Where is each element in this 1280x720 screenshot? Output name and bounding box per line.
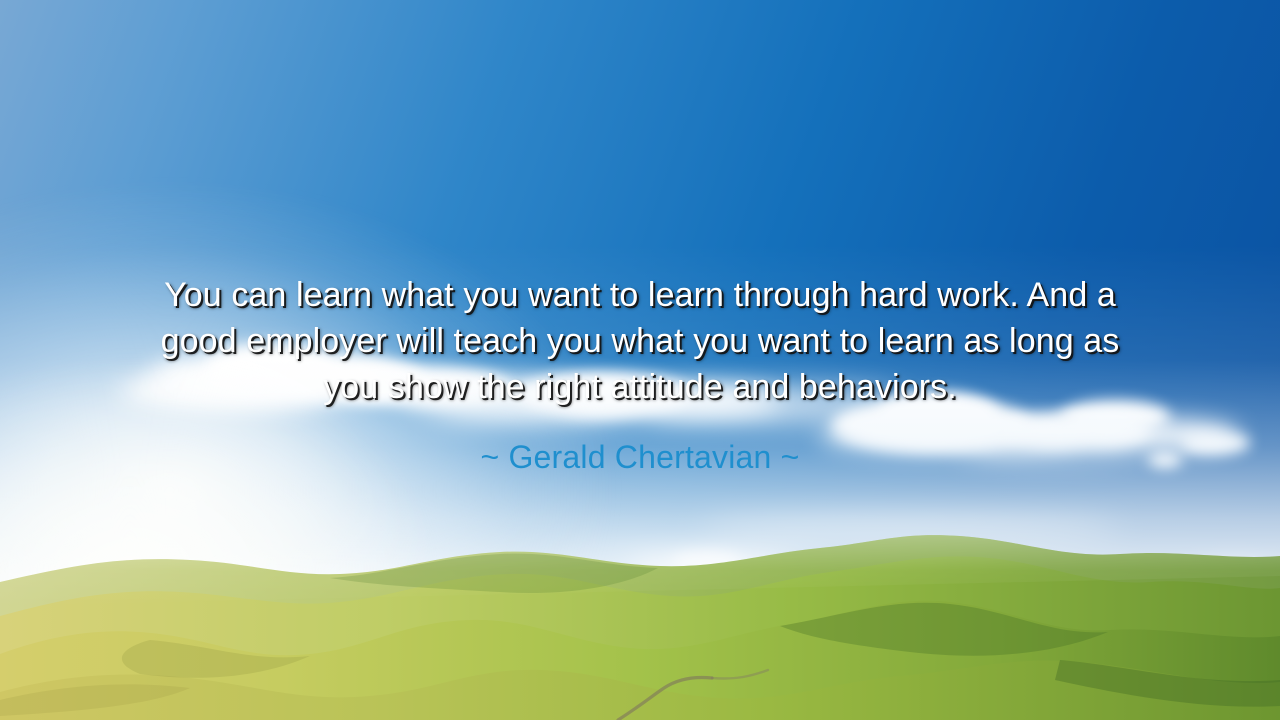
quote-line-1: You can learn what you want to learn thr… [60,272,1220,318]
quote-line-2: good employer will teach you what you wa… [60,318,1220,364]
quote-image-canvas: You can learn what you want to learn thr… [0,0,1280,720]
quote-block: You can learn what you want to learn thr… [0,272,1280,410]
quote-line-3: you show the right attitude and behavior… [60,364,1220,410]
quote-attribution: ~ Gerald Chertavian ~ [0,437,1280,477]
green-hills [0,530,1280,720]
